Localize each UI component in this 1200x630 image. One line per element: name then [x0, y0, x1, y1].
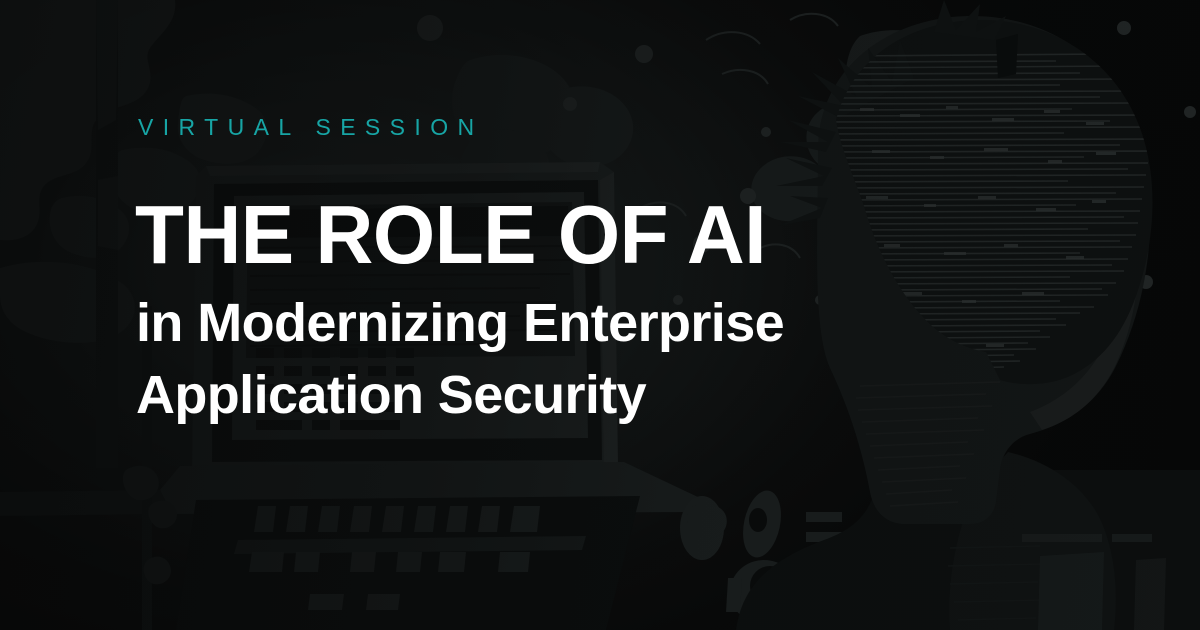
eyebrow-label: VIRTUAL SESSION — [138, 116, 484, 139]
virtual-session-banner: VIRTUAL SESSION THE ROLE OF AI in Modern… — [0, 0, 1200, 630]
subheading: in Modernizing Enterprise Application Se… — [136, 288, 1076, 432]
page-title: THE ROLE OF AI — [135, 197, 766, 273]
banner-content: VIRTUAL SESSION THE ROLE OF AI in Modern… — [138, 0, 1038, 630]
subheading-line-2: Application Security — [136, 360, 1076, 432]
subheading-line-1: in Modernizing Enterprise — [136, 288, 1076, 360]
